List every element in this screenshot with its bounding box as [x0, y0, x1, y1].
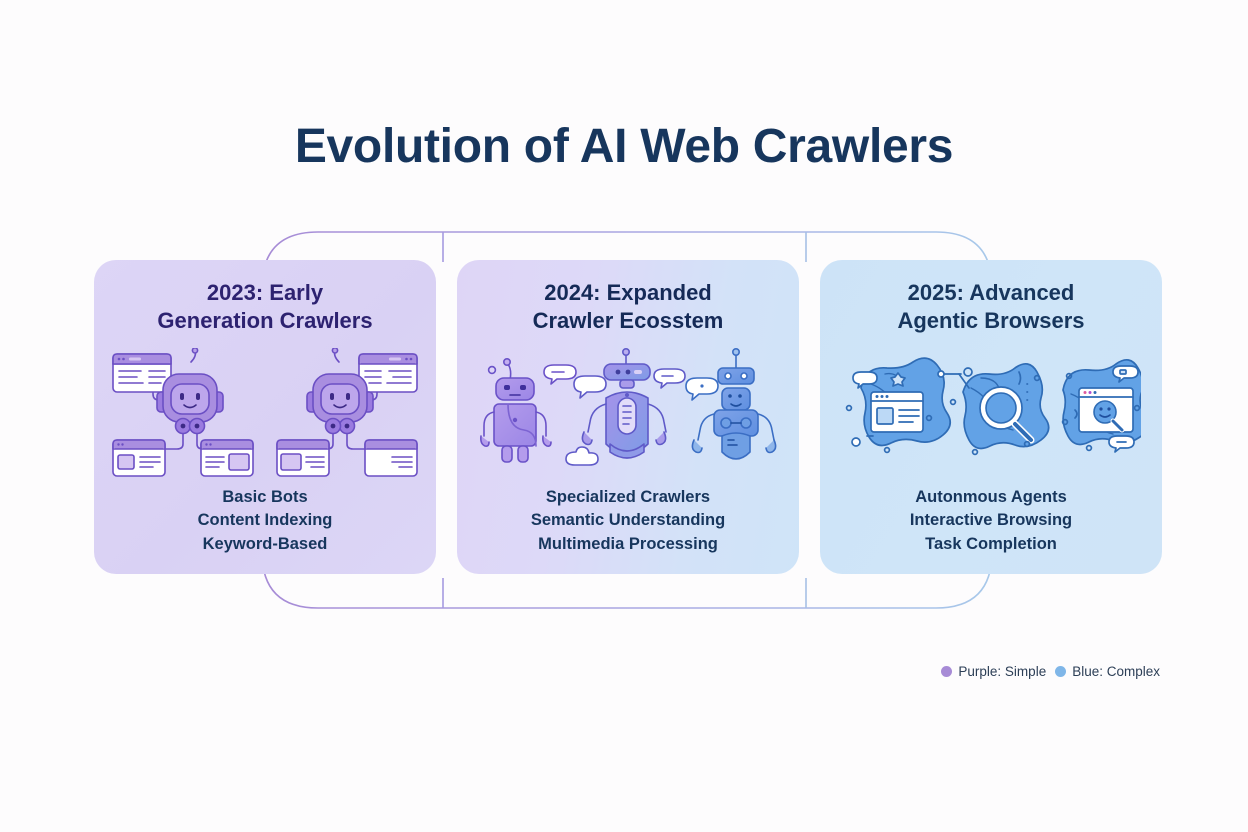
card-title-2023: 2023: Early Generation Crawlers [94, 279, 436, 335]
card-point: Specialized Crawlers [457, 486, 799, 510]
timeline-card-2025[interactable]: 2025: Advanced Agentic Browsers [820, 260, 1162, 574]
timeline-card-2024[interactable]: 2024: Expanded Crawler Ecosstem [457, 260, 799, 574]
card-point: Interactive Browsing [820, 509, 1162, 533]
legend-label: Blue: Complex [1072, 664, 1160, 679]
legend-item-purple: Purple: Simple [941, 664, 1046, 679]
card-title-2024: 2024: Expanded Crawler Ecosstem [457, 279, 799, 335]
agentic-browser-blobs-illustration [820, 348, 1162, 478]
card-point: Content Indexing [94, 509, 436, 533]
legend: Purple: Simple Blue: Complex [941, 664, 1160, 679]
page-title: Evolution of AI Web Crawlers [0, 119, 1248, 174]
infographic-canvas: Evolution of AI Web Crawlers 2023: Early… [0, 0, 1248, 832]
card-point: Task Completion [820, 533, 1162, 557]
card-points-2023: Basic Bots Content Indexing Keyword-Base… [94, 486, 436, 557]
early-crawler-robots-illustration [94, 348, 436, 478]
legend-label: Purple: Simple [958, 664, 1046, 679]
card-point: Basic Bots [94, 486, 436, 510]
card-title-2025: 2025: Advanced Agentic Browsers [820, 279, 1162, 335]
card-point: Keyword-Based [94, 533, 436, 557]
card-points-2024: Specialized Crawlers Semantic Understand… [457, 486, 799, 557]
legend-item-blue: Blue: Complex [1055, 664, 1160, 679]
card-point: Autonmous Agents [820, 486, 1162, 510]
dot-icon [1055, 666, 1066, 677]
timeline-card-2023[interactable]: 2023: Early Generation Crawlers [94, 260, 436, 574]
card-point: Semantic Understanding [457, 509, 799, 533]
specialized-crawler-robots-illustration [457, 348, 799, 478]
card-point: Multimedia Processing [457, 533, 799, 557]
dot-icon [941, 666, 952, 677]
card-points-2025: Autonmous Agents Interactive Browsing Ta… [820, 486, 1162, 557]
